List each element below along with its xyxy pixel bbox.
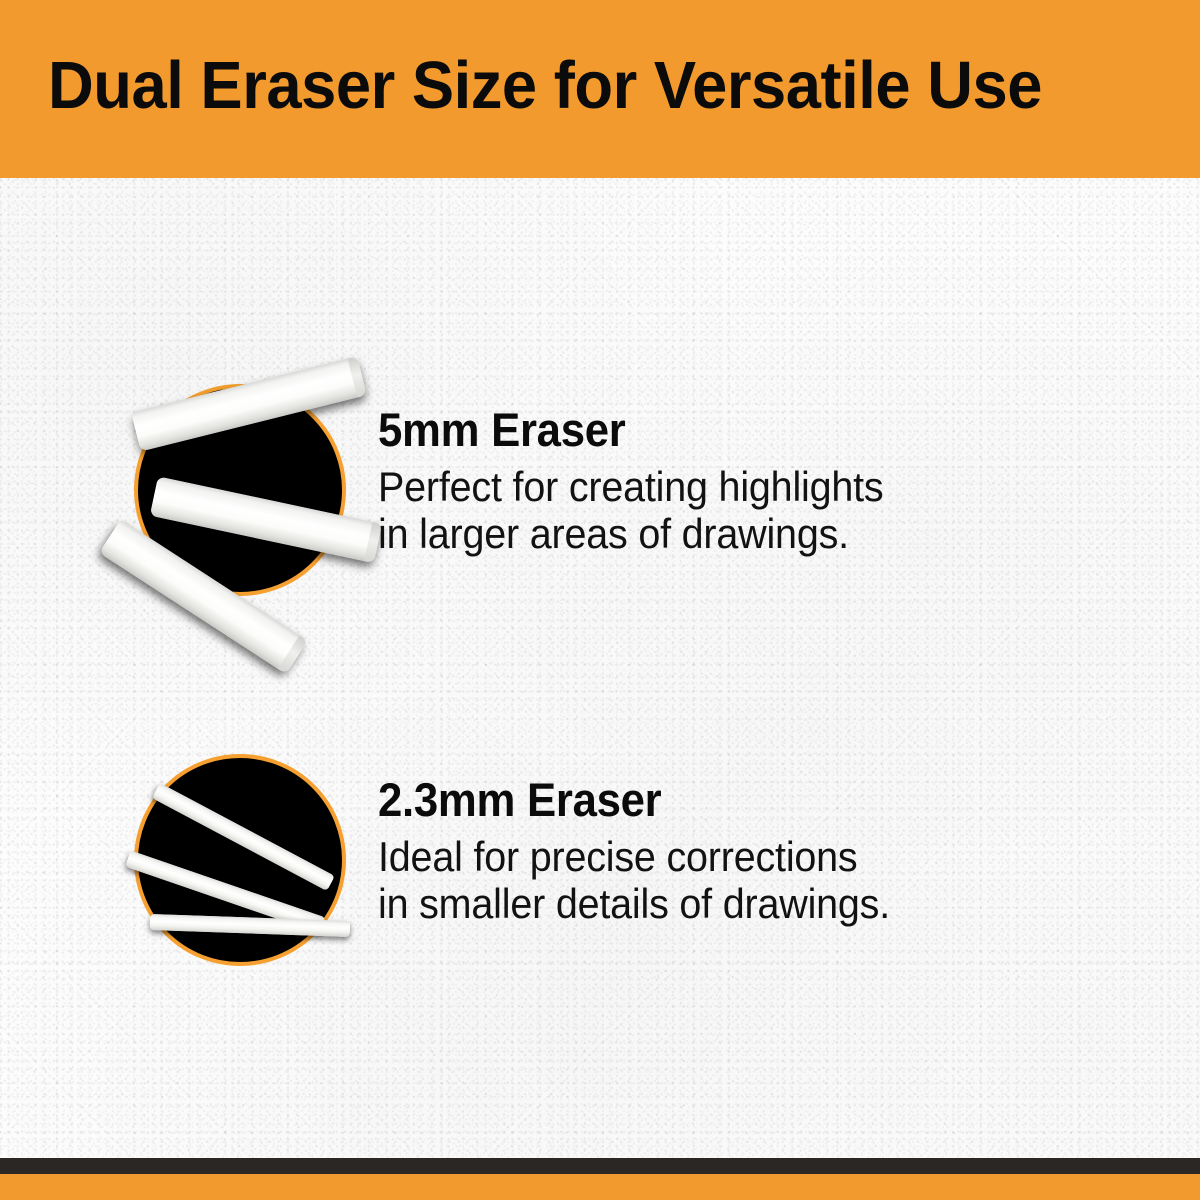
paper-mottle-texture [0, 178, 1200, 1158]
infographic-page: Dual Eraser Size for Versatile Use [0, 0, 1200, 1200]
page-title: Dual Eraser Size for Versatile Use [48, 52, 1042, 119]
header-banner: Dual Eraser Size for Versatile Use [0, 0, 1200, 178]
footer-orange-bar [0, 1174, 1200, 1200]
footer-dark-bar [0, 1158, 1200, 1174]
paper-background [0, 178, 1200, 1158]
